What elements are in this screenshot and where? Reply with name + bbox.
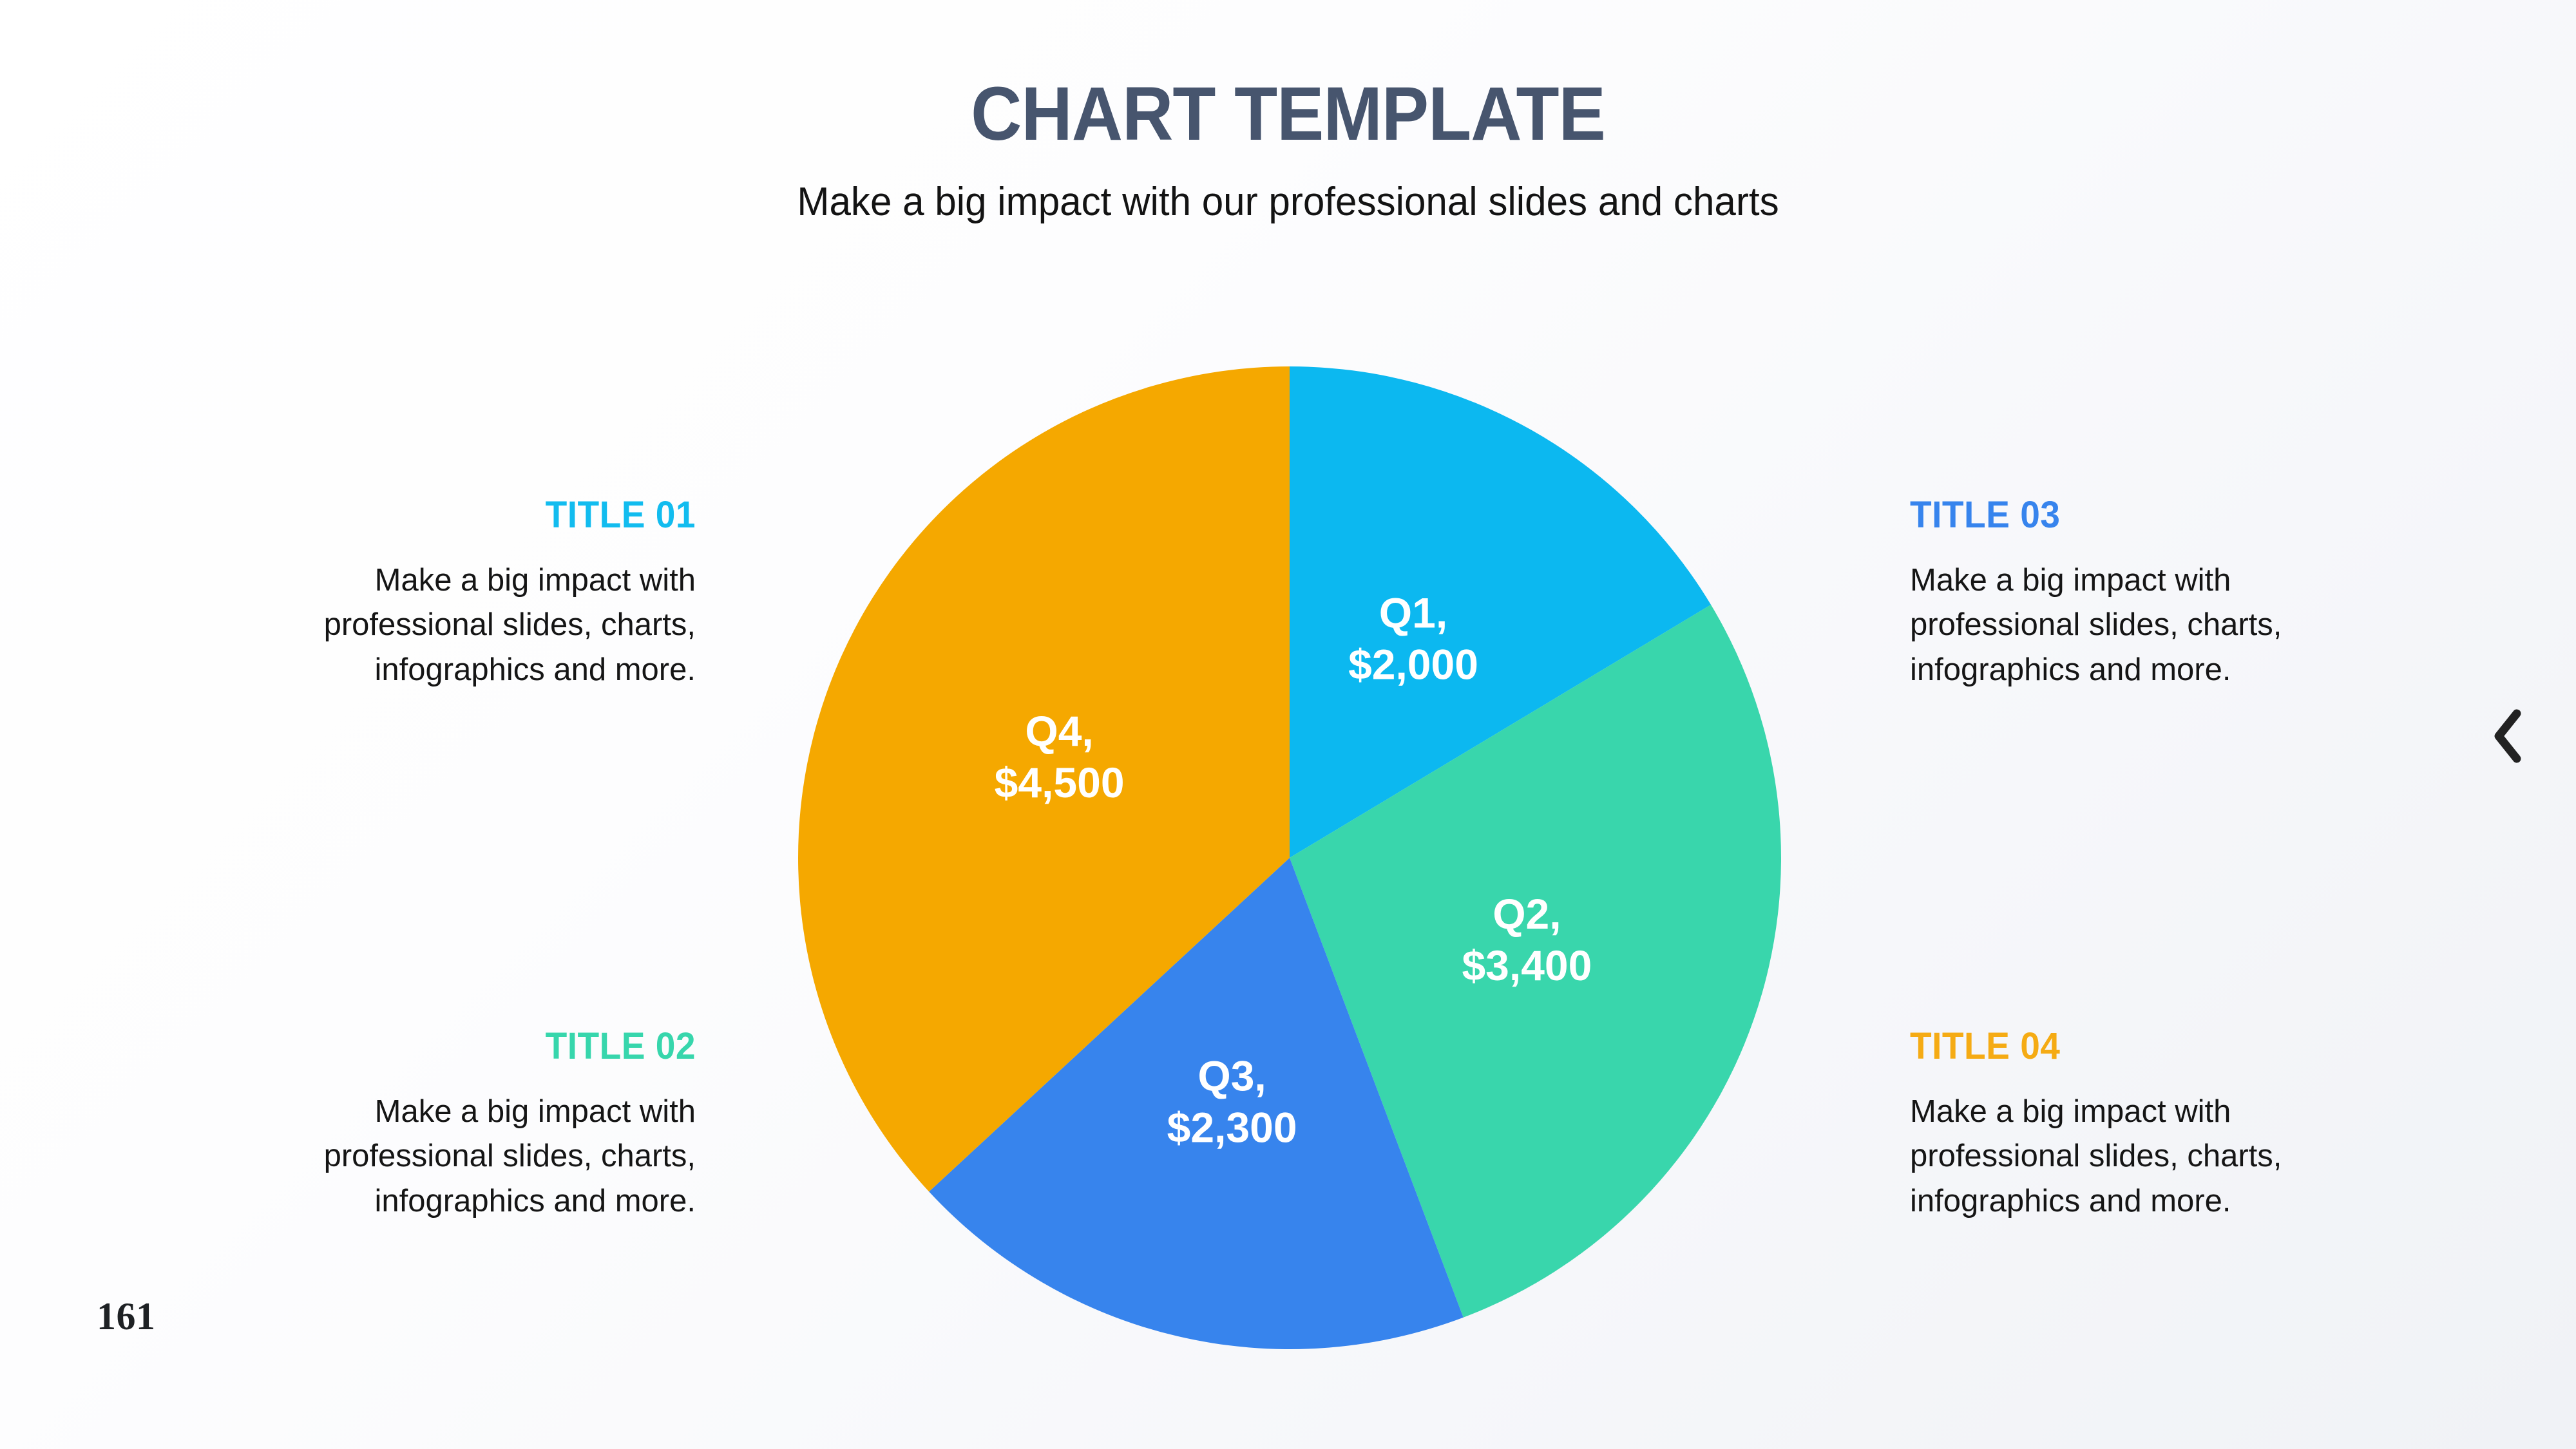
info-block-title-02-body: Make a big impact with professional slid… <box>245 1090 696 1224</box>
pie-slices <box>798 366 1781 1349</box>
pie-chart-svg: Q1, $2,000 Q2, $3,400 Q3, $2,300 Q4, $4,… <box>794 362 1786 1354</box>
info-block-title-04-heading: TITLE 04 <box>1910 1027 2338 1066</box>
page-number: 161 <box>97 1294 156 1339</box>
pie-label-q4-name: Q4, <box>1025 707 1093 755</box>
pie-label-q4-value: $4,500 <box>995 759 1125 806</box>
slide-header: CHART TEMPLATE Make a big impact with ou… <box>0 0 2576 224</box>
page-subtitle: Make a big impact with our professional … <box>39 180 2537 224</box>
pie-label-q1-name: Q1, <box>1379 589 1447 637</box>
info-block-title-01: TITLE 01 Make a big impact with professi… <box>245 496 696 693</box>
pie-label-q1-value: $2,000 <box>1348 641 1478 688</box>
info-block-title-01-heading: TITLE 01 <box>267 496 696 535</box>
chevron-left-icon <box>2490 708 2526 764</box>
info-block-title-04-body: Make a big impact with professional slid… <box>1910 1090 2361 1224</box>
info-block-title-02: TITLE 02 Make a big impact with professi… <box>245 1027 696 1224</box>
info-block-title-03-body: Make a big impact with professional slid… <box>1910 558 2361 693</box>
info-block-title-04: TITLE 04 Make a big impact with professi… <box>1910 1027 2361 1224</box>
info-block-title-03: TITLE 03 Make a big impact with professi… <box>1910 496 2361 693</box>
pie-label-q2-name: Q2, <box>1493 890 1561 938</box>
info-block-title-03-heading: TITLE 03 <box>1910 496 2338 535</box>
pie-chart: Q1, $2,000 Q2, $3,400 Q3, $2,300 Q4, $4,… <box>794 362 1786 1354</box>
info-block-title-01-body: Make a big impact with professional slid… <box>245 558 696 693</box>
pie-label-q3-value: $2,300 <box>1167 1104 1297 1151</box>
page-title: CHART TEMPLATE <box>90 76 2486 152</box>
pie-label-q2-value: $3,400 <box>1462 942 1592 989</box>
prev-slide-button[interactable] <box>2472 701 2543 772</box>
pie-label-q3-name: Q3, <box>1197 1052 1266 1100</box>
info-block-title-02-heading: TITLE 02 <box>267 1027 696 1066</box>
